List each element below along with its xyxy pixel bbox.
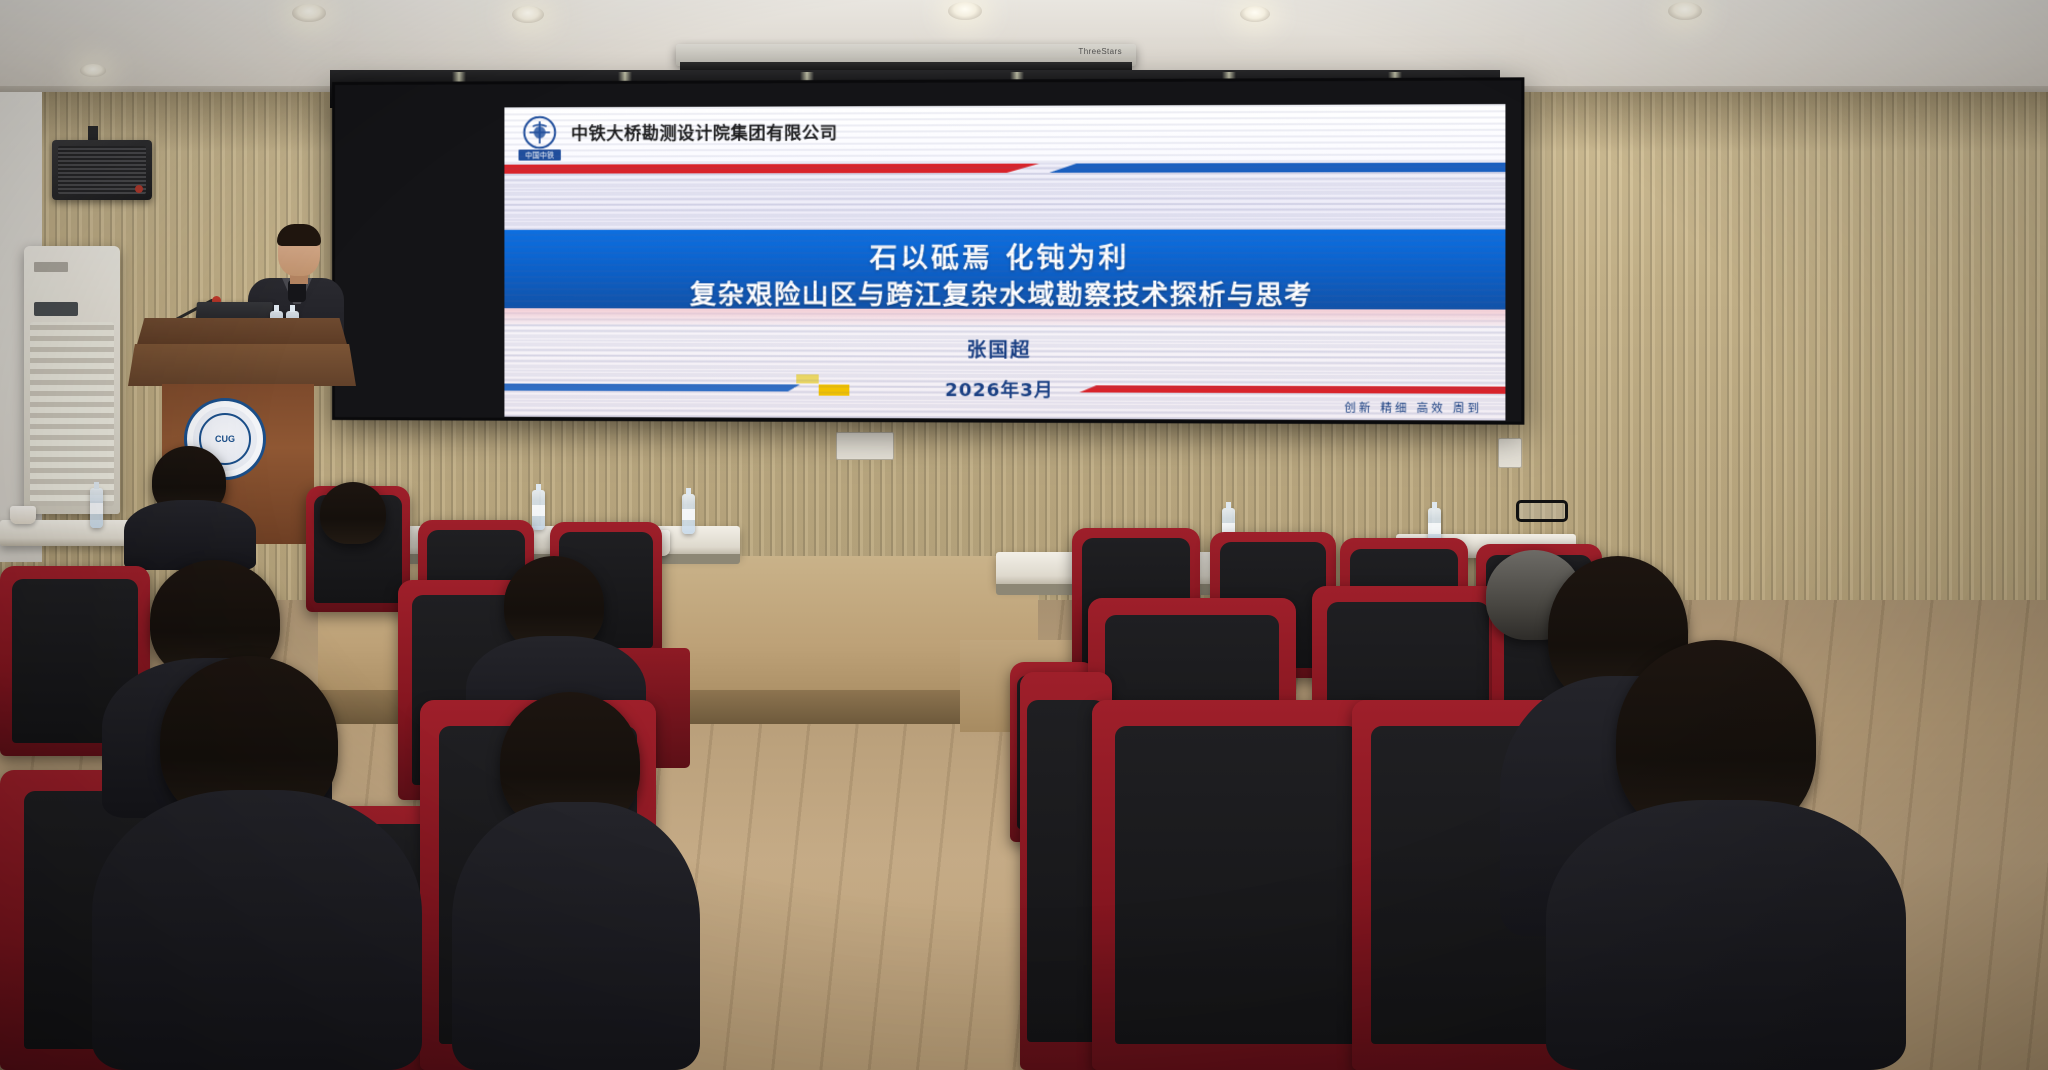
water-bottle <box>532 490 545 530</box>
podium-slab <box>128 344 356 386</box>
projector-brand-label: ThreeStars <box>1078 47 1122 56</box>
wall-speaker <box>52 140 152 200</box>
ceiling-downlight <box>948 2 982 20</box>
footer-red-band <box>1079 385 1505 394</box>
water-bottle <box>90 488 103 528</box>
audience-shoulders <box>92 790 422 1070</box>
paper-cup <box>10 506 36 524</box>
slide-company-name: 中铁大桥勘测设计院集团有限公司 <box>571 118 838 144</box>
podium-top <box>136 318 348 348</box>
audience-shoulders <box>124 500 256 570</box>
wall-outlet <box>1498 438 1522 468</box>
presenter-hair <box>277 224 321 246</box>
ceiling-downlight <box>512 6 544 23</box>
slide-footer-slogan: 创新 精细 高效 周到 <box>1344 399 1482 416</box>
ceiling-downlight <box>1668 2 1702 20</box>
audience-shoulders <box>1546 800 1906 1070</box>
ceiling-downlight <box>1240 6 1270 22</box>
ac-vents <box>30 322 114 506</box>
presentation-slide: 中国中铁 中铁大桥勘测设计院集团有限公司 石以砥焉 化钝为利 复杂艰险山区与跨江… <box>504 104 1505 420</box>
led-video-wall: 中国中铁 中铁大桥勘测设计院集团有限公司 石以砥焉 化钝为利 复杂艰险山区与跨江… <box>332 77 1524 424</box>
china-railway-logo-caption: 中国中铁 <box>519 149 561 160</box>
ceiling-downlight <box>80 64 106 77</box>
china-railway-logo-icon <box>523 115 557 149</box>
wall-outlet <box>836 432 894 460</box>
audience-head <box>320 482 386 544</box>
slide-presenter-name: 张国超 <box>504 334 1505 364</box>
conference-hall-photo: ThreeStars 中国中铁 中铁大桥勘测设计院集团有限公司 <box>0 0 2048 1070</box>
audience-chair <box>1092 700 1382 1070</box>
audience-shoulders <box>452 802 700 1070</box>
speaker-grille <box>58 146 146 194</box>
emblem-text: CUG <box>215 434 235 444</box>
eyeglasses <box>1516 500 1568 522</box>
slide-accent-tag <box>796 374 818 383</box>
water-bottle <box>682 494 695 534</box>
slide-header: 中国中铁 中铁大桥勘测设计院集团有限公司 <box>504 104 1505 164</box>
ac-brand-logo <box>34 262 68 272</box>
ceiling-downlight <box>292 4 326 22</box>
logo-caption-text: 中国中铁 <box>525 150 554 160</box>
ac-control-panel[interactable] <box>34 302 78 316</box>
slide-pink-strip <box>504 308 1505 326</box>
slide-title-main: 石以砥焉 化钝为利 <box>504 236 1505 276</box>
header-red-band <box>504 164 1039 174</box>
speaker-indicator-icon <box>135 185 143 193</box>
slide-accent-tag <box>819 384 850 395</box>
footer-blue-band <box>504 384 799 392</box>
slide-title-sub: 复杂艰险山区与跨江复杂水域勘察技术探析与思考 <box>504 274 1505 313</box>
header-blue-band <box>1049 163 1505 173</box>
air-conditioner-unit <box>24 246 120 514</box>
chair-cushion <box>1115 726 1359 1044</box>
